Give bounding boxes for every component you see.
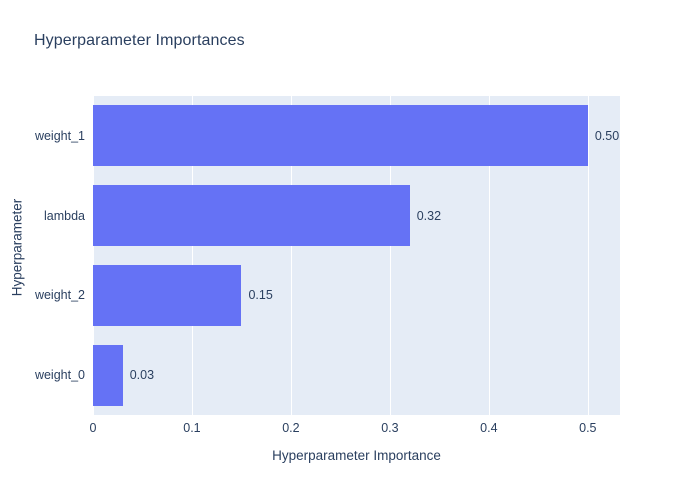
x-axis-tick-label: 0.4 — [480, 422, 497, 435]
y-axis-tick-label: weight_0 — [35, 369, 85, 382]
bar[interactable] — [93, 105, 588, 166]
y-axis-title: Hyperparameter — [10, 178, 25, 318]
y-axis-tick-label: lambda — [44, 210, 85, 223]
chart-figure: Hyperparameter Importances 0.500.320.150… — [0, 0, 700, 500]
x-gridline — [588, 96, 589, 415]
x-axis-tick-label: 0.1 — [183, 422, 200, 435]
bar[interactable] — [93, 265, 241, 326]
x-axis-tick-label: 0.5 — [579, 422, 596, 435]
bar-value-label: 0.15 — [248, 289, 272, 302]
y-axis-tick-label: weight_1 — [35, 130, 85, 143]
x-axis-title: Hyperparameter Importance — [93, 448, 620, 463]
bar[interactable] — [93, 185, 410, 246]
bar-value-label: 0.03 — [130, 369, 154, 382]
bar-value-label: 0.50 — [595, 130, 619, 143]
x-axis-tick-labels: 00.10.20.30.40.5 — [93, 422, 620, 440]
bar[interactable] — [93, 345, 123, 406]
x-axis-tick-label: 0.3 — [381, 422, 398, 435]
plot-area: 0.500.320.150.03 — [93, 96, 620, 415]
y-axis-tick-label: weight_2 — [35, 289, 85, 302]
x-axis-tick-label: 0 — [90, 422, 97, 435]
bar-value-label: 0.32 — [417, 210, 441, 223]
x-axis-tick-label: 0.2 — [282, 422, 299, 435]
page-title: Hyperparameter Importances — [34, 32, 245, 50]
